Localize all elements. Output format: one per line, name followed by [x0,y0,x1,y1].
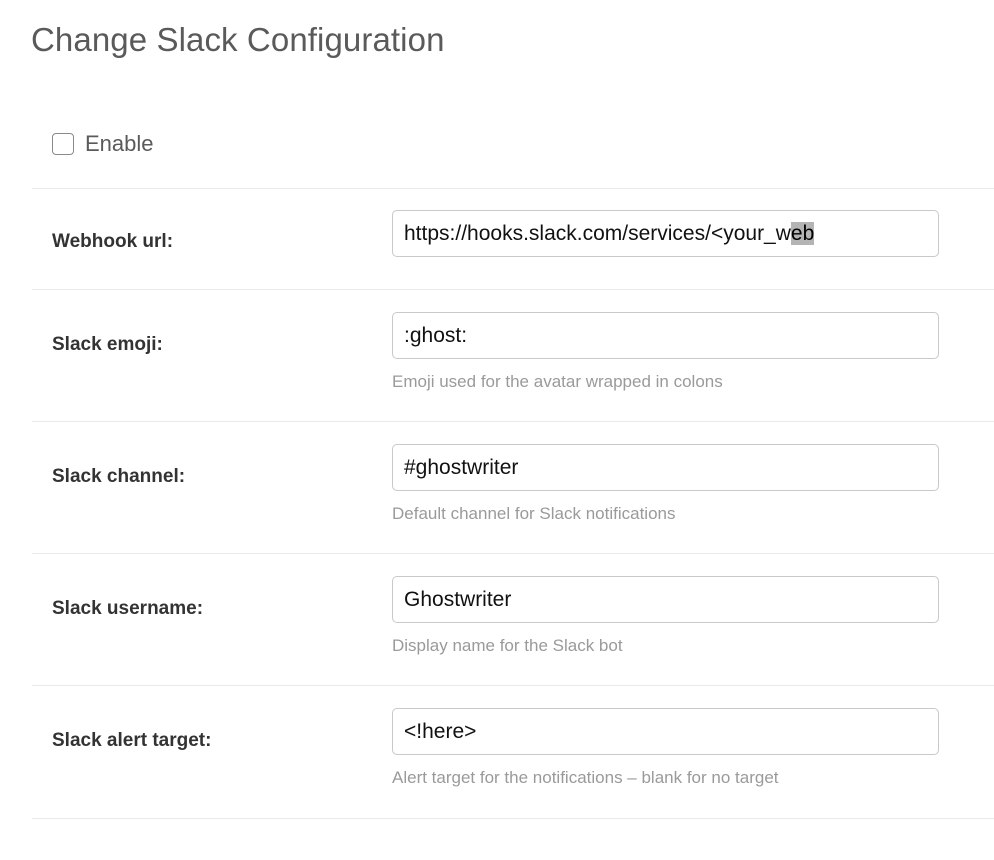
divider [32,553,994,554]
help-text-slack-channel: Default channel for Slack notifications [392,503,939,525]
divider [32,188,994,189]
slack-channel-input[interactable]: #ghostwriter [392,444,939,491]
label-slack-username: Slack username: [52,597,203,621]
field-col-slack-emoji: :ghost: Emoji used for the avatar wrappe… [392,312,939,393]
field-col-webhook-url: https://hooks.slack.com/services/<your_w… [392,210,939,257]
field-col-slack-channel: #ghostwriter Default channel for Slack n… [392,444,939,525]
slack-username-value: Ghostwriter [404,588,511,611]
page-title: Change Slack Configuration [31,18,445,62]
checkbox-unchecked-icon[interactable] [52,133,74,155]
slack-emoji-input[interactable]: :ghost: [392,312,939,359]
label-slack-channel: Slack channel: [52,465,185,489]
divider [32,685,994,686]
divider [32,421,994,422]
divider [32,818,994,819]
slack-alert-target-value: <!here> [404,720,476,743]
field-col-slack-alert-target: <!here> Alert target for the notificatio… [392,708,939,789]
divider [32,289,994,290]
field-col-slack-username: Ghostwriter Display name for the Slack b… [392,576,939,657]
label-webhook-url: Webhook url: [52,230,173,254]
enable-label: Enable [85,131,154,157]
slack-username-input[interactable]: Ghostwriter [392,576,939,623]
slack-emoji-value: :ghost: [404,324,467,347]
change-slack-configuration-page: Change Slack Configuration Enable Webhoo… [0,0,994,860]
help-text-slack-emoji: Emoji used for the avatar wrapped in col… [392,371,939,393]
label-slack-alert-target: Slack alert target: [52,729,211,753]
help-text-slack-username: Display name for the Slack bot [392,635,939,657]
webhook-url-value: https://hooks.slack.com/services/<your_w [404,222,791,245]
help-text-slack-alert-target: Alert target for the notifications – bla… [392,767,939,789]
slack-alert-target-input[interactable]: <!here> [392,708,939,755]
enable-row: Enable [52,131,154,157]
webhook-url-input[interactable]: https://hooks.slack.com/services/<your_w… [392,210,939,257]
label-slack-emoji: Slack emoji: [52,333,163,357]
webhook-url-selected-text: eb [791,222,814,245]
slack-channel-value: #ghostwriter [404,456,518,479]
